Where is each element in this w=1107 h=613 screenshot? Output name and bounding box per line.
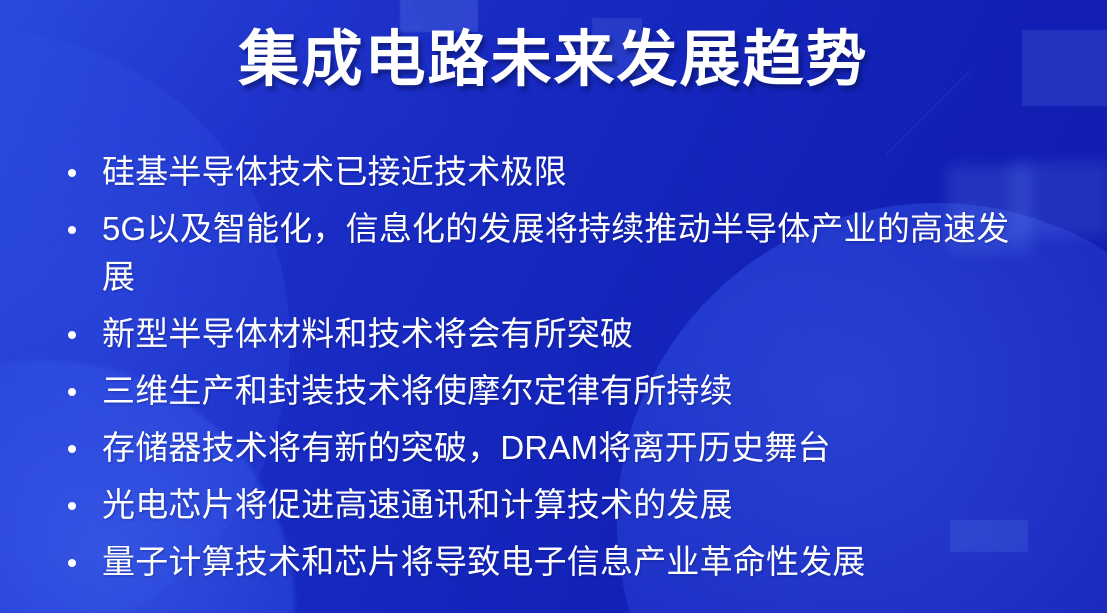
bullet-item-7: 量子计算技术和芯片将导致电子信息产业革命性发展: [56, 538, 1067, 586]
bullet-text: 5G以及智能化，信息化的发展将持续推动半导体产业的高速发展: [102, 205, 1022, 301]
bullet-list: 硅基半导体技术已接近技术极限 5G以及智能化，信息化的发展将持续推动半导体产业的…: [56, 148, 1067, 595]
slide-content: 集成电路未来发展趋势 硅基半导体技术已接近技术极限 5G以及智能化，信息化的发展…: [0, 0, 1107, 613]
bullet-dot-icon: [68, 502, 76, 510]
bullet-item-2: 5G以及智能化，信息化的发展将持续推动半导体产业的高速发展: [56, 205, 1067, 301]
bullet-text: 三维生产和封装技术将使摩尔定律有所持续: [102, 367, 1067, 415]
bullet-text: 量子计算技术和芯片将导致电子信息产业革命性发展: [102, 538, 1067, 586]
bullet-text: 新型半导体材料和技术将会有所突破: [102, 310, 1067, 358]
bullet-dot-icon: [68, 169, 76, 177]
bullet-text: 存储器技术将有新的突破，DRAM将离开历史舞台: [102, 424, 1067, 472]
bullet-item-4: 三维生产和封装技术将使摩尔定律有所持续: [56, 367, 1067, 415]
slide-title: 集成电路未来发展趋势: [0, 26, 1107, 93]
bullet-dot-icon: [68, 559, 76, 567]
bullet-text: 硅基半导体技术已接近技术极限: [102, 148, 1067, 196]
bullet-dot-icon: [68, 388, 76, 396]
bullet-item-3: 新型半导体材料和技术将会有所突破: [56, 310, 1067, 358]
bullet-dot-icon: [68, 445, 76, 453]
bullet-dot-icon: [68, 226, 76, 234]
bullet-item-5: 存储器技术将有新的突破，DRAM将离开历史舞台: [56, 424, 1067, 472]
bullet-dot-icon: [68, 331, 76, 339]
presentation-slide: 集成电路未来发展趋势 硅基半导体技术已接近技术极限 5G以及智能化，信息化的发展…: [0, 0, 1107, 613]
bullet-text: 光电芯片将促进高速通讯和计算技术的发展: [102, 481, 1067, 529]
bullet-item-1: 硅基半导体技术已接近技术极限: [56, 148, 1067, 196]
bullet-item-6: 光电芯片将促进高速通讯和计算技术的发展: [56, 481, 1067, 529]
